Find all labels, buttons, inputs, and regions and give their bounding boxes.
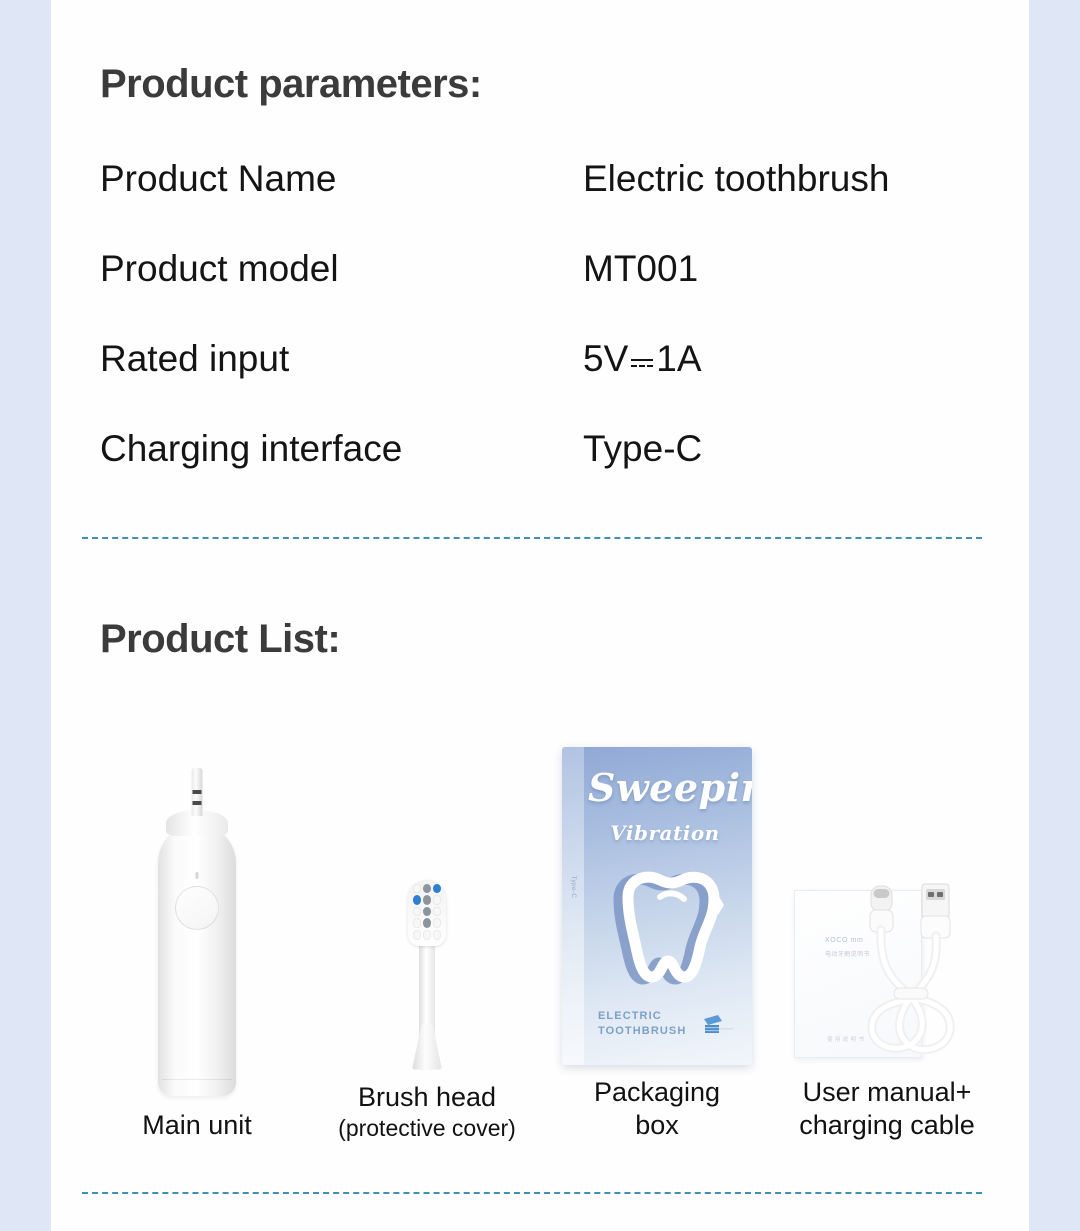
product-image-manual-and-cable: XOCO mm 电动牙刷说明书 使用说明书 xyxy=(772,720,1002,1065)
box-footer-line-1: ELECTRIC xyxy=(598,1009,686,1024)
spec-label-product-name: Product Name xyxy=(100,160,583,197)
page-title-product-parameters: Product parameters: xyxy=(100,62,482,107)
caption-line-2: box xyxy=(594,1110,720,1141)
product-item-main-unit: Main unit xyxy=(82,753,312,1141)
caption-line-1: Main unit xyxy=(142,1110,252,1140)
box-footer-text: ELECTRIC TOOTHBRUSH xyxy=(598,1009,686,1039)
rated-input-voltage: 5V xyxy=(583,338,628,379)
page-background: Product parameters: Product Name Electri… xyxy=(0,0,1080,1231)
product-item-manual-and-cable: XOCO mm 电动牙刷说明书 使用说明书 xyxy=(772,720,1002,1141)
spec-value-charging-interface: Type-C xyxy=(583,430,1030,467)
handle-drive-shaft xyxy=(192,768,203,816)
section-divider-top xyxy=(82,537,982,539)
box-footer-line-2: TOOTHBRUSH xyxy=(598,1024,686,1039)
page-title-product-list: Product List: xyxy=(100,617,340,662)
product-parameters-table: Product Name Electric toothbrush Product… xyxy=(100,160,1030,520)
brush-head-bristle-plate xyxy=(408,880,446,946)
section-divider-bottom xyxy=(82,1192,982,1194)
spec-value-rated-input: 5V1A xyxy=(583,340,1030,377)
brush-head-icon xyxy=(387,880,467,1070)
box-spine-text: Type-C xyxy=(570,876,576,898)
spec-value-product-name: Electric toothbrush xyxy=(583,160,1030,197)
toothbrush-handle-icon xyxy=(142,768,252,1098)
brush-head-logo-icon xyxy=(700,1013,734,1039)
box-subtitle: Vibration xyxy=(588,821,742,845)
handle-body xyxy=(158,824,236,1096)
spec-label-charging-interface: Charging interface xyxy=(100,430,583,467)
caption-line-2: (protective cover) xyxy=(338,1115,516,1141)
product-list-grid: Main unit xyxy=(82,720,1002,1141)
box-spine: Type-C xyxy=(562,747,584,1065)
table-row: Product Name Electric toothbrush xyxy=(100,160,1030,250)
power-button-icon xyxy=(175,886,219,930)
caption-line-1: Packaging xyxy=(594,1077,720,1107)
bristle-cluster-grid xyxy=(413,884,441,940)
product-image-main-unit xyxy=(82,753,312,1098)
box-title: Sweeping xyxy=(588,769,742,807)
manual-and-cable-icon: XOCO mm 电动牙刷说明书 使用说明书 xyxy=(792,880,982,1065)
product-image-brush-head xyxy=(312,725,542,1070)
product-caption-brush-head: Brush head (protective cover) xyxy=(338,1082,516,1141)
power-indicator-dot xyxy=(196,872,199,879)
product-caption-main-unit: Main unit xyxy=(142,1110,252,1141)
caption-line-1: Brush head xyxy=(358,1082,496,1112)
product-image-packaging-box: Type-C Sweeping Vibration ELECTRIC TOOTH… xyxy=(542,720,772,1065)
product-caption-packaging-box: Packaging box xyxy=(594,1077,720,1141)
packaging-box-icon: Type-C Sweeping Vibration ELECTRIC TOOTH… xyxy=(562,747,752,1065)
caption-line-1: User manual+ xyxy=(803,1077,972,1107)
product-item-packaging-box: Type-C Sweeping Vibration ELECTRIC TOOTH… xyxy=(542,720,772,1141)
tooth-illustration xyxy=(598,867,738,985)
spec-label-product-model: Product model xyxy=(100,250,583,287)
spec-value-product-model: MT001 xyxy=(583,250,1030,287)
usb-charging-cable-icon xyxy=(844,880,982,1065)
table-row: Product model MT001 xyxy=(100,250,1030,340)
spec-label-rated-input: Rated input xyxy=(100,340,583,377)
table-row: Rated input 5V1A xyxy=(100,340,1030,430)
table-row: Charging interface Type-C xyxy=(100,430,1030,520)
product-item-brush-head: Brush head (protective cover) xyxy=(312,725,542,1141)
dc-current-icon xyxy=(629,353,655,373)
caption-line-2: charging cable xyxy=(799,1110,975,1141)
product-caption-manual-and-cable: User manual+ charging cable xyxy=(799,1077,975,1141)
rated-input-current: 1A xyxy=(656,338,701,379)
